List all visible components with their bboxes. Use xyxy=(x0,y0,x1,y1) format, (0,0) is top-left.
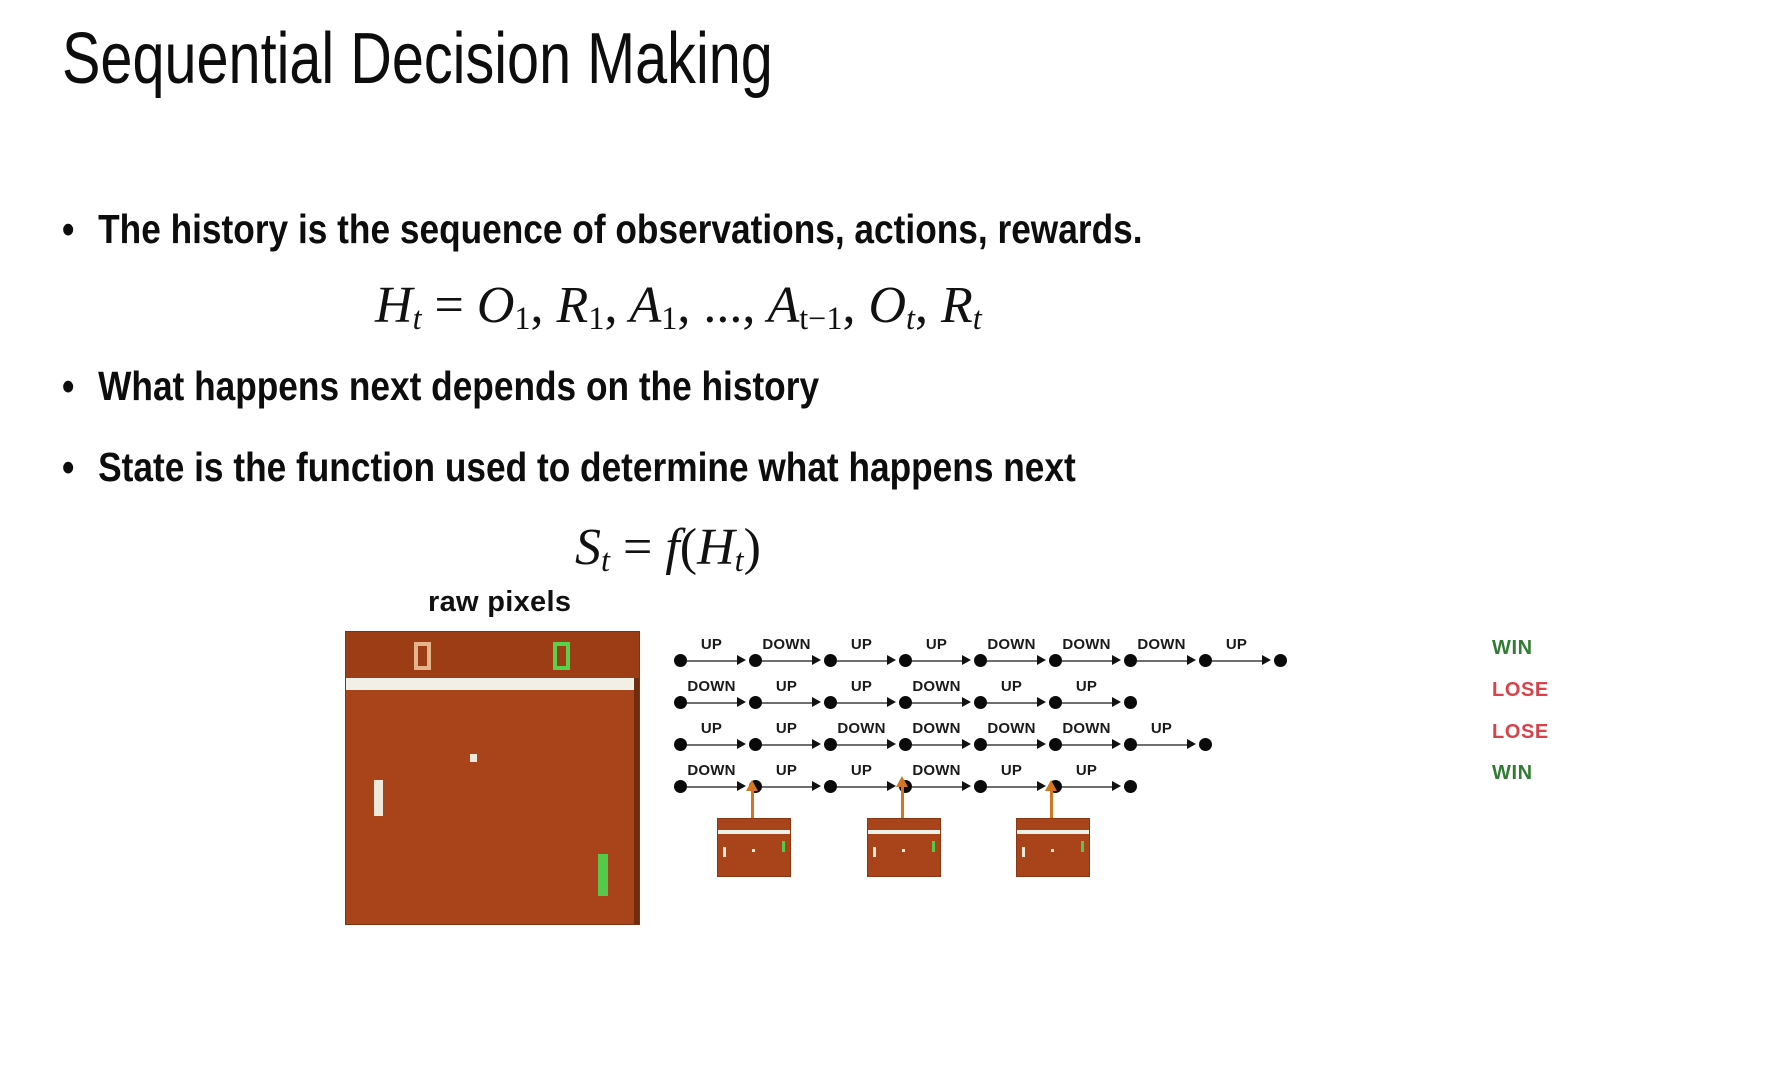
trajectory-node xyxy=(899,738,912,751)
action-label: DOWN xyxy=(1137,636,1185,653)
formula-state-arg-sub: t xyxy=(735,542,744,578)
trajectory-node xyxy=(674,780,687,793)
trajectory-edge xyxy=(912,786,963,788)
action-label: UP xyxy=(1001,762,1022,779)
trajectory-arrow-icon xyxy=(1187,739,1196,749)
formula-history-equals: = xyxy=(435,277,464,334)
trajectory-edge xyxy=(762,702,813,704)
trajectory-edge xyxy=(1062,702,1113,704)
formula-term: R xyxy=(941,277,973,334)
trajectory-node xyxy=(824,654,837,667)
bullet-text-history: The history is the sequence of observati… xyxy=(98,206,1142,252)
trajectory-node xyxy=(1049,738,1062,751)
trajectory-node xyxy=(899,696,912,709)
trajectory-node xyxy=(824,696,837,709)
formula-term-sub: t xyxy=(906,300,915,336)
trajectory-node xyxy=(1124,780,1137,793)
trajectory-arrow-icon xyxy=(812,781,821,791)
trajectory-edge xyxy=(687,744,738,746)
trajectory-arrow-icon xyxy=(1187,655,1196,665)
trajectory-arrow-icon xyxy=(737,739,746,749)
formula-term: R xyxy=(557,277,589,334)
action-label: DOWN xyxy=(687,678,735,695)
trajectory-arrow-icon xyxy=(737,781,746,791)
pong-paddle-left xyxy=(873,847,876,857)
action-label: UP xyxy=(776,678,797,695)
trajectory-arrow-icon xyxy=(1112,655,1121,665)
trajectory-node xyxy=(899,654,912,667)
trajectory-edge xyxy=(1137,744,1188,746)
pong-right-edge xyxy=(634,678,639,924)
trajectory-arrow-icon xyxy=(737,697,746,707)
action-label: UP xyxy=(701,636,722,653)
pong-divider-band xyxy=(346,678,639,690)
action-label: DOWN xyxy=(987,720,1035,737)
formula-term: O xyxy=(868,277,906,334)
trajectory-edge xyxy=(762,660,813,662)
formula-term: A xyxy=(767,277,799,334)
formula-term-sub: 1 xyxy=(661,300,677,336)
formula-state-fn: f xyxy=(665,519,679,576)
formula-state-lhs-sub: t xyxy=(601,542,610,578)
trajectory-arrow-icon xyxy=(887,655,896,665)
trajectory-node xyxy=(1049,696,1062,709)
trajectory-arrow-icon xyxy=(962,739,971,749)
trajectory-arrow-icon xyxy=(1112,697,1121,707)
trajectory-arrow-icon xyxy=(962,655,971,665)
trajectory-node xyxy=(824,780,837,793)
pong-top-band xyxy=(346,632,639,678)
formula-state-lhs: S xyxy=(575,519,601,576)
outcome-label: WIN xyxy=(1492,762,1533,785)
action-label: UP xyxy=(1076,678,1097,695)
pong-score-left xyxy=(414,642,431,670)
pong-thumbnail xyxy=(1016,818,1090,877)
trajectory-arrow-icon xyxy=(812,739,821,749)
action-label: UP xyxy=(776,720,797,737)
pong-thumbnail xyxy=(867,818,941,877)
action-label: DOWN xyxy=(912,762,960,779)
trajectory-edge xyxy=(912,744,963,746)
trajectory-node xyxy=(749,696,762,709)
trajectory-edge xyxy=(987,660,1038,662)
pong-paddle-left xyxy=(374,780,383,816)
trajectory-edge xyxy=(1062,660,1113,662)
formula-ellipsis: ... xyxy=(703,277,742,334)
pong-paddle-right xyxy=(932,841,935,852)
bullet-marker: • xyxy=(62,208,98,251)
pong-screenshot xyxy=(345,631,640,925)
pong-paddle-left xyxy=(1022,847,1025,857)
trajectory-edge xyxy=(687,786,738,788)
action-label: DOWN xyxy=(912,720,960,737)
formula-state-equals: = xyxy=(623,519,652,576)
trajectory-arrow-icon xyxy=(737,655,746,665)
pong-ball xyxy=(752,849,755,852)
pong-divider-band xyxy=(1017,830,1089,834)
bullet-text-next: What happens next depends on the history xyxy=(98,363,819,409)
raw-pixels-label: raw pixels xyxy=(428,586,571,619)
outcome-label: WIN xyxy=(1492,637,1533,660)
trajectory-node xyxy=(1199,738,1212,751)
trajectory-node xyxy=(974,738,987,751)
trajectory-arrow-icon xyxy=(1037,697,1046,707)
trajectory-node xyxy=(1124,654,1137,667)
trajectory-node xyxy=(1049,654,1062,667)
trajectory-row: DOWNUPUPDOWNUPUP xyxy=(668,680,1368,718)
trajectory-node xyxy=(1274,654,1287,667)
formula-term: A xyxy=(630,277,662,334)
action-label: DOWN xyxy=(837,720,885,737)
formula-state: St = f(Ht) xyxy=(575,518,761,579)
trajectory-node xyxy=(674,738,687,751)
trajectory-edge xyxy=(687,702,738,704)
formula-term: O xyxy=(477,277,515,334)
trajectory-node xyxy=(1124,738,1137,751)
formula-state-arg: H xyxy=(697,519,735,576)
action-label: UP xyxy=(851,636,872,653)
pong-score-right xyxy=(553,642,570,670)
trajectory-arrow-icon xyxy=(1112,781,1121,791)
trajectory-node xyxy=(1199,654,1212,667)
trajectory-arrow-icon xyxy=(1037,739,1046,749)
action-label: UP xyxy=(926,636,947,653)
pong-paddle-right xyxy=(598,854,608,896)
trajectory-arrow-icon xyxy=(812,697,821,707)
trajectory-arrow-icon xyxy=(1112,739,1121,749)
trajectory-node xyxy=(824,738,837,751)
trajectory-edge xyxy=(837,786,888,788)
action-label: UP xyxy=(1226,636,1247,653)
state-pointer-arrow-icon xyxy=(901,786,904,818)
action-label: DOWN xyxy=(1062,636,1110,653)
trajectory-arrow-icon xyxy=(962,697,971,707)
bullet-marker: • xyxy=(62,446,98,489)
action-label: UP xyxy=(851,678,872,695)
trajectory-arrow-icon xyxy=(962,781,971,791)
pong-paddle-right xyxy=(782,841,785,852)
pong-ball xyxy=(470,754,477,762)
trajectory-edge xyxy=(987,702,1038,704)
pong-paddle-left xyxy=(723,847,726,857)
trajectory-row: UPDOWNUPUPDOWNDOWNDOWNUP xyxy=(668,638,1368,676)
trajectory-edge xyxy=(687,660,738,662)
bullet-text-state: State is the function used to determine … xyxy=(98,444,1076,490)
trajectory-edge xyxy=(837,744,888,746)
trajectory-edge xyxy=(912,702,963,704)
trajectory-node xyxy=(974,780,987,793)
trajectory-edge xyxy=(837,702,888,704)
bullet-item-history: •The history is the sequence of observat… xyxy=(62,208,1143,251)
formula-term-sub: 1 xyxy=(588,300,604,336)
trajectory-edge xyxy=(1137,660,1188,662)
trajectory-diagram: UPDOWNUPUPDOWNDOWNDOWNUP DOWNUPUPDOWNUPU… xyxy=(668,630,1368,795)
state-pointer-arrow-icon xyxy=(751,790,754,818)
action-label: UP xyxy=(851,762,872,779)
formula-term-sub: t−1 xyxy=(799,300,842,336)
bullet-marker: • xyxy=(62,365,98,408)
formula-history: Ht = O1, R1, A1, ..., At−1, Ot, Rt xyxy=(375,276,982,337)
trajectory-node xyxy=(974,654,987,667)
action-label: UP xyxy=(1001,678,1022,695)
trajectory-node xyxy=(674,654,687,667)
trajectory-row: UPUPDOWNDOWNDOWNDOWNUP xyxy=(668,722,1368,760)
formula-history-lhs-sub: t xyxy=(413,300,422,336)
trajectory-edge xyxy=(1212,660,1263,662)
trajectory-arrow-icon xyxy=(1037,655,1046,665)
action-label: DOWN xyxy=(912,678,960,695)
action-label: DOWN xyxy=(1062,720,1110,737)
trajectory-arrow-icon xyxy=(887,739,896,749)
trajectory-edge xyxy=(762,744,813,746)
trajectory-row: DOWNUPUPDOWNUPUP xyxy=(668,764,1368,802)
action-label: UP xyxy=(1151,720,1172,737)
trajectory-edge xyxy=(987,744,1038,746)
action-label: UP xyxy=(776,762,797,779)
slide-canvas: Sequential Decision Making •The history … xyxy=(0,0,1774,1080)
trajectory-node xyxy=(749,738,762,751)
trajectory-arrow-icon xyxy=(812,655,821,665)
action-label: UP xyxy=(701,720,722,737)
state-pointer-arrow-icon xyxy=(1050,790,1053,818)
pong-divider-band xyxy=(868,830,940,834)
trajectory-arrow-icon xyxy=(1262,655,1271,665)
page-title: Sequential Decision Making xyxy=(62,20,773,99)
trajectory-edge xyxy=(1062,786,1113,788)
pong-paddle-right xyxy=(1081,841,1084,852)
trajectory-arrow-icon xyxy=(887,697,896,707)
action-label: UP xyxy=(1076,762,1097,779)
bullet-item-next: •What happens next depends on the histor… xyxy=(62,365,819,408)
action-label: DOWN xyxy=(687,762,735,779)
trajectory-edge xyxy=(912,660,963,662)
pong-ball xyxy=(1051,849,1054,852)
formula-history-lhs: H xyxy=(375,277,413,334)
trajectory-node xyxy=(749,654,762,667)
action-label: DOWN xyxy=(762,636,810,653)
formula-term-sub: t xyxy=(973,300,982,336)
action-label: DOWN xyxy=(987,636,1035,653)
pong-ball xyxy=(902,849,905,852)
trajectory-edge xyxy=(837,660,888,662)
bullet-item-state: •State is the function used to determine… xyxy=(62,446,1076,489)
trajectory-node xyxy=(674,696,687,709)
trajectory-arrow-icon xyxy=(887,781,896,791)
outcome-label: LOSE xyxy=(1492,721,1549,744)
trajectory-edge xyxy=(987,786,1038,788)
pong-divider-band xyxy=(718,830,790,834)
trajectory-node xyxy=(974,696,987,709)
trajectory-edge xyxy=(762,786,813,788)
trajectory-node xyxy=(1124,696,1137,709)
pong-thumbnail xyxy=(717,818,791,877)
trajectory-edge xyxy=(1062,744,1113,746)
outcome-label: LOSE xyxy=(1492,679,1549,702)
formula-term-sub: 1 xyxy=(514,300,530,336)
